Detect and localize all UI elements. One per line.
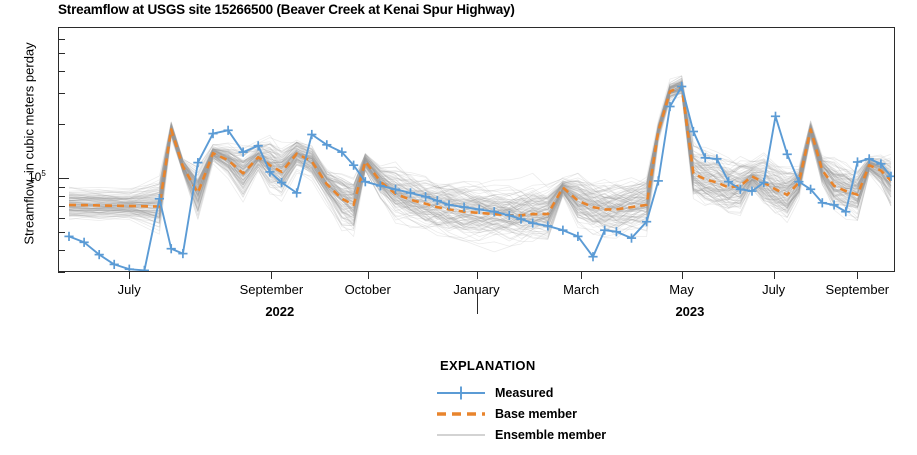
x-axis-tick — [129, 272, 130, 279]
x-axis-tick-label: October — [308, 282, 428, 297]
line-plus-marker-icon — [437, 385, 485, 401]
y-axis-major-tick — [58, 178, 69, 179]
y-axis-minor-tick — [58, 39, 65, 40]
x-axis-tick-label: September — [797, 282, 917, 297]
y-axis-minor-tick — [58, 187, 65, 188]
legend-title: EXPLANATION — [440, 358, 737, 373]
y-axis-minor-tick — [58, 196, 65, 197]
y-axis-minor-tick — [58, 124, 65, 125]
dashed-line-icon — [437, 406, 485, 422]
x-axis-tick — [368, 272, 369, 279]
year-boundary-tick — [477, 294, 478, 314]
x-axis-tick — [477, 272, 478, 279]
y-axis-minor-tick — [58, 218, 65, 219]
y-axis-minor-tick — [58, 250, 65, 251]
y-axis-label: Streamflow, in cubic meters perday — [22, 19, 37, 269]
year-label: 2022 — [220, 304, 340, 319]
legend-label: Base member — [495, 407, 577, 421]
y-axis-minor-tick — [58, 272, 65, 273]
y-axis-minor-tick — [58, 232, 65, 233]
y-axis-minor-tick — [58, 206, 65, 207]
x-axis-tick — [774, 272, 775, 279]
legend-item-ensemble-member: Ensemble member — [437, 424, 737, 445]
thin-line-icon — [437, 427, 485, 443]
x-axis-tick — [271, 272, 272, 279]
y-axis-minor-tick — [58, 93, 65, 94]
page-title: Streamflow at USGS site 15266500 (Beaver… — [58, 2, 515, 17]
legend-label: Ensemble member — [495, 428, 606, 442]
x-axis-tick — [682, 272, 683, 279]
legend-label: Measured — [495, 386, 553, 400]
y-axis-minor-tick — [58, 53, 65, 54]
x-axis-tick-label: July — [69, 282, 189, 297]
x-axis-tick — [581, 272, 582, 279]
plot-area — [58, 27, 895, 272]
plot-svg — [59, 28, 895, 272]
legend: EXPLANATION Measured Base member — [437, 358, 737, 445]
x-axis-tick — [857, 272, 858, 279]
streamflow-chart-figure: Streamflow at USGS site 15266500 (Beaver… — [0, 0, 917, 455]
legend-item-base-member: Base member — [437, 403, 737, 424]
y-axis-tick-label: 105 — [28, 169, 46, 184]
year-label: 2023 — [630, 304, 750, 319]
y-axis-minor-tick — [58, 71, 65, 72]
y-axis-minor-tick — [58, 27, 65, 28]
legend-item-measured: Measured — [437, 382, 737, 403]
